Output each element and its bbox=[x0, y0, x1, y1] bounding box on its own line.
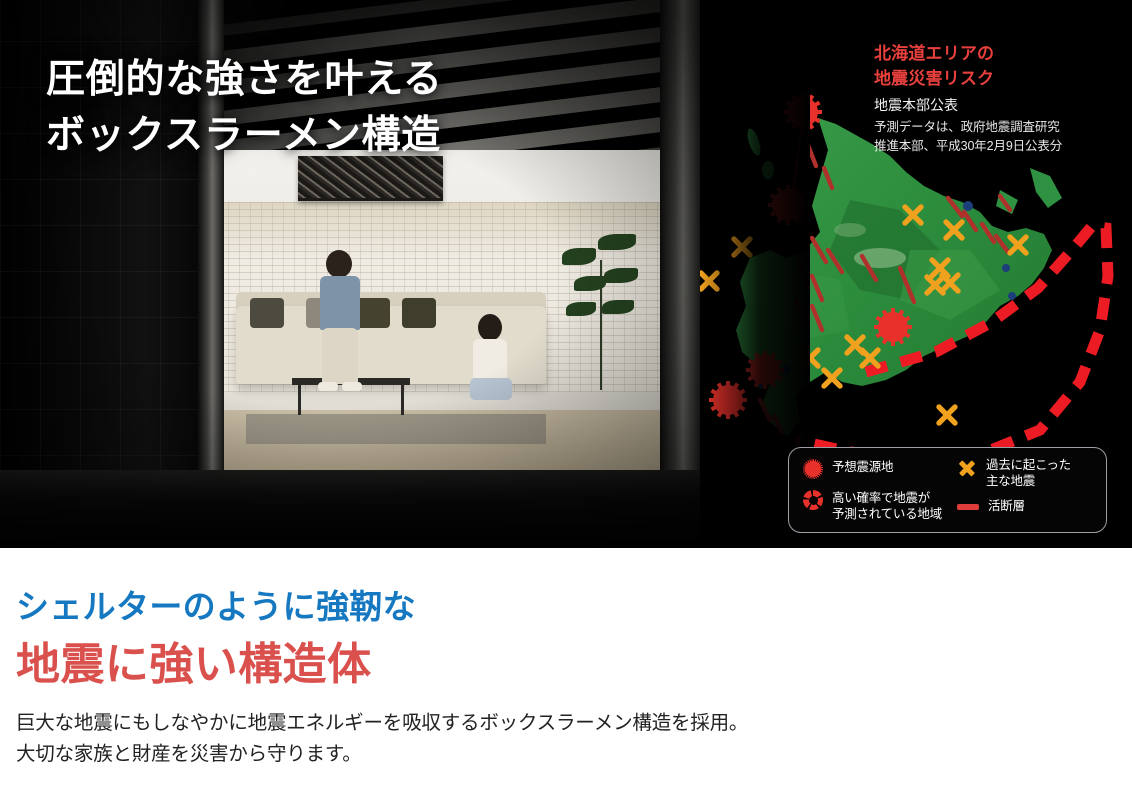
lake bbox=[1008, 292, 1016, 300]
hero-heading: 圧倒的な強さを叶える ボックスラーメン構造 bbox=[46, 52, 443, 163]
legend-label: 活断層 bbox=[988, 498, 1025, 514]
legend-item-epicenter: 予想震源地 bbox=[803, 459, 893, 479]
hero-section: 圧倒的な強さを叶える ボックスラーメン構造 bbox=[0, 0, 1132, 548]
lake bbox=[963, 201, 973, 211]
legend-item-active-fault: 活断層 bbox=[957, 498, 1025, 514]
map-source-note: 予測データは、政府地震調査研究 推進本部、平成30年2月9日公表分 bbox=[874, 118, 1062, 156]
legend-label: 過去に起こった 主な地震 bbox=[986, 457, 1071, 489]
map-title: 北海道エリアの 地震災害リスク bbox=[874, 42, 994, 91]
bottom-body-text: 巨大な地震にもしなやかに地震エネルギーを吸収するボックスラーメン構造を採用。 大… bbox=[16, 708, 748, 771]
legend-item-high-probability: 高い確率で地震が 予測されている地域 bbox=[803, 490, 942, 522]
earthquake-risk-map-panel: 北海道エリアの 地震災害リスク 地震本部公表 予測データは、政府地震調査研究 推… bbox=[700, 0, 1132, 548]
high-probability-ring-icon bbox=[803, 490, 823, 510]
map-legend: 予想震源地 高い確率で地震が 予測されている地域 過去に起こった 主な地震 活断… bbox=[788, 447, 1107, 533]
past-earthquake-x-icon bbox=[957, 457, 977, 477]
active-fault-dash-icon bbox=[957, 504, 979, 510]
page-root: 圧倒的な強さを叶える ボックスラーメン構造 bbox=[0, 0, 1132, 800]
bottom-subtitle: シェルターのように強靭な bbox=[16, 580, 416, 628]
legend-item-past-earthquake: 過去に起こった 主な地震 bbox=[957, 457, 1071, 489]
legend-label: 高い確率で地震が 予測されている地域 bbox=[832, 490, 942, 522]
legend-label: 予想震源地 bbox=[832, 459, 893, 475]
bottom-section: シェルターのように強靭な 地震に強い構造体 巨大な地震にもしなやかに地震エネルギ… bbox=[0, 548, 1132, 800]
map-source-label: 地震本部公表 bbox=[874, 95, 958, 115]
kuril-islands bbox=[982, 168, 1062, 233]
bottom-title: 地震に強い構造体 bbox=[16, 628, 372, 692]
epicenter-burst-icon bbox=[803, 459, 823, 479]
lake bbox=[1002, 264, 1010, 272]
